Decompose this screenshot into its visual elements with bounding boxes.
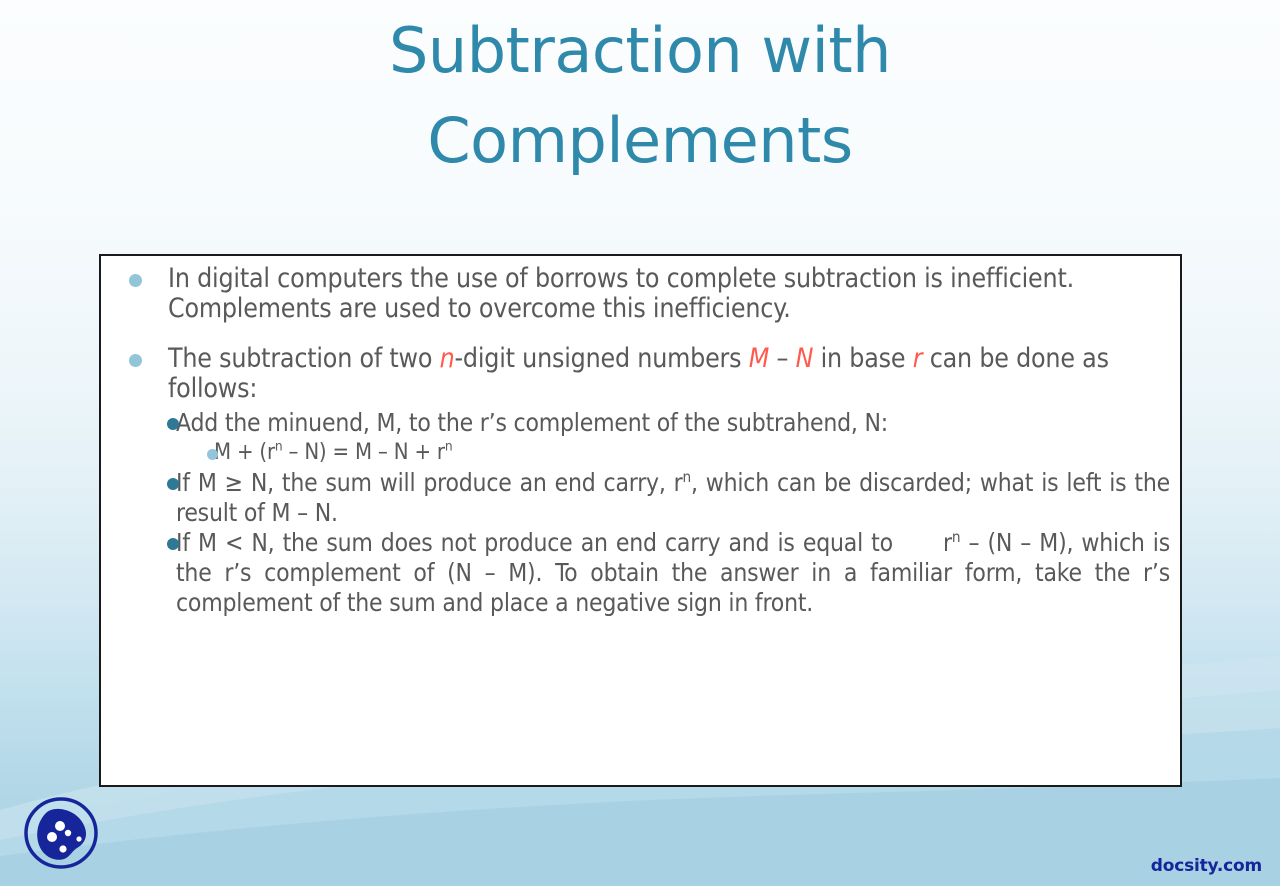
bullet-marker-icon — [207, 449, 218, 460]
title-line-1: Subtraction with — [0, 6, 1280, 96]
sub-bullet-2-part-a: If M ≥ N, the sum will produce an end ca… — [176, 468, 683, 497]
bullet-level2-item: Add the minuend, M, to the r’s complemen… — [111, 408, 1170, 438]
bullet-2-part-c: in base — [813, 343, 913, 374]
watermark-text: docsity.com — [1151, 856, 1262, 876]
formula-before: M + (r — [214, 440, 275, 465]
bullet-2-dash: – — [769, 343, 795, 374]
docsity-logo — [22, 793, 100, 871]
variable-n: n — [440, 343, 455, 374]
title-line-2: Complements — [0, 96, 1280, 186]
bullet-level3-item: M + (rn – N) = M – N + rn — [111, 438, 1170, 468]
formula-superscript-2: n — [445, 439, 453, 455]
variable-r: r — [913, 343, 923, 374]
bullet-2-part-b: -digit unsigned numbers — [455, 343, 749, 374]
bullet-level2-item: If M < N, the sum does not produce an en… — [111, 528, 1170, 618]
slide-title: Subtraction with Complements — [0, 6, 1280, 186]
bullet-marker-icon — [129, 354, 142, 367]
sub-bullet-3-part-b: r — [943, 528, 952, 557]
sub-bullet-2-superscript: n — [683, 468, 691, 486]
bullet-level1-item: The subtraction of two n-digit unsigned … — [111, 344, 1170, 404]
variable-n2: N — [796, 343, 814, 374]
bullet-marker-icon — [167, 418, 179, 430]
bullet-list: In digital computers the use of borrows … — [111, 264, 1170, 618]
bullet-level2-item: If M ≥ N, the sum will produce an end ca… — [111, 468, 1170, 528]
bullet-2-part-a: The subtraction of two — [168, 343, 440, 374]
bullet-1-text: In digital computers the use of borrows … — [168, 263, 1074, 324]
variable-m: M — [749, 343, 769, 374]
slide-canvas: Subtraction with Complements In digital … — [0, 0, 1280, 886]
bullet-spacer — [111, 328, 1170, 344]
sub-bullet-3-part-a: If M < N, the sum does not produce an en… — [176, 528, 901, 557]
bullet-level1-item: In digital computers the use of borrows … — [111, 264, 1170, 324]
bullet-marker-icon — [167, 478, 179, 490]
sub-bullet-1-text: Add the minuend, M, to the r’s complemen… — [176, 408, 888, 437]
content-box: In digital computers the use of borrows … — [99, 254, 1182, 787]
bullet-marker-icon — [129, 274, 142, 287]
bullet-marker-icon — [167, 538, 179, 550]
formula-middle: – N) = M – N + r — [282, 440, 444, 465]
